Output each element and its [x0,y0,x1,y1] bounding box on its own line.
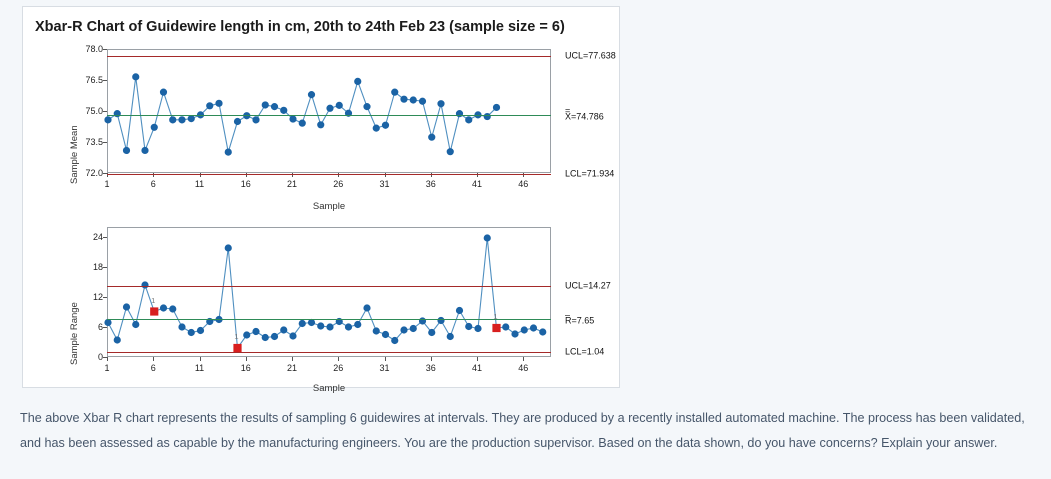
xbar-chart-data-point [327,105,333,111]
chart-card: Xbar-R Chart of Guidewire length in cm, … [22,6,620,388]
r-chart-data-point [392,337,398,343]
xbar-chart-data-point [466,117,472,123]
r-chart-data-point [503,324,509,330]
r-chart-violation-flag: 1 [151,296,155,305]
r-chart-x-tick: 1 [104,363,109,373]
r-chart-series [108,228,552,358]
r-chart-data-point [281,327,287,333]
r-plot-area [107,227,551,357]
r-chart-x-tick-mark [153,357,154,361]
xbar-chart-data-point [253,117,259,123]
r-chart-data-point [373,328,379,334]
r-chart-x-tick-mark [338,357,339,361]
r-chart: Sample Range Sample 06121824161116212631… [23,215,621,395]
xbar-chart-center-label: =X=74.786 [565,109,604,122]
r-chart-violation-point [493,324,500,331]
r-chart-data-point [262,334,268,340]
r-chart-data-point [456,307,462,313]
r-chart-y-tick-mark [103,267,107,268]
xbar-chart-lcl-line [107,174,551,175]
xbar-chart-data-point [160,89,166,95]
xbar-chart-data-point [271,104,277,110]
r-chart-lcl-line [107,352,551,353]
xbar-chart-x-tick: 11 [195,179,204,189]
r-chart-data-point [345,324,351,330]
r-chart-center-label: –R=7.65 [565,312,594,325]
xbar-chart-data-point [281,107,287,113]
xbar-chart-data-point [299,120,305,126]
r-chart-y-tick: 0 [77,352,103,362]
r-chart-violation-flag: 1 [493,312,497,321]
r-chart-data-point [512,331,518,337]
r-chart-violation-point [151,308,158,315]
r-chart-data-point [160,305,166,311]
xbar-chart-y-tick-mark [103,111,107,112]
xbar-chart-y-tick: 78.0 [77,44,103,54]
xbar-chart-ucl-label: UCL=77.638 [565,52,616,61]
xbar-chart-x-tick: 6 [151,179,156,189]
xbar-chart-data-point [401,96,407,102]
xbar-chart-y-tick-mark [103,80,107,81]
r-chart-data-point [484,235,490,241]
r-chart-data-point [114,337,120,343]
xbar-chart-x-tick: 1 [104,179,109,189]
xbar-chart-data-point [105,117,111,123]
r-chart-x-tick-mark [477,357,478,361]
r-chart-x-tick: 31 [379,363,389,373]
r-chart-x-tick-mark [200,357,201,361]
xbar-chart-lcl-label: LCL=71.934 [565,170,614,179]
r-chart-x-tick: 16 [241,363,251,373]
xbar-chart-data-point [447,149,453,155]
r-chart-data-point [197,327,203,333]
r-chart-y-tick-mark [103,237,107,238]
xbar-chart-y-tick: 75.0 [77,106,103,116]
xbar-chart-data-point [151,124,157,130]
r-chart-data-point [382,331,388,337]
r-chart-data-point [133,321,139,327]
r-chart-violation-point [234,344,241,351]
r-chart-ucl-label: UCL=14.27 [565,281,611,290]
xbar-chart-data-point [355,78,361,84]
xbar-chart-x-tick: 21 [287,179,297,189]
xbar-chart-center-label-text: X=74.786 [565,112,604,122]
xbar-chart-y-tick-mark [103,49,107,50]
xbar-chart-data-point [142,147,148,153]
xbar-chart-data-point [429,134,435,140]
r-chart-data-point [244,332,250,338]
xbar-chart-x-tick: 46 [518,179,528,189]
xbar-chart: Sample Mean Sample 72.073.575.076.578.01… [23,39,621,219]
r-chart-x-tick: 21 [287,363,297,373]
xbar-chart-data-point [262,102,268,108]
r-chart-data-point [318,323,324,329]
xbar-chart-data-point [170,117,176,123]
xbar-chart-x-tick: 41 [472,179,482,189]
r-chart-x-tick-mark [292,357,293,361]
r-chart-data-point [179,324,185,330]
xbar-chart-x-tick: 31 [379,179,389,189]
r-chart-data-point [299,320,305,326]
xbar-chart-data-point [373,125,379,131]
xbar-chart-data-point [392,89,398,95]
xbar-chart-data-point [290,116,296,122]
xbar-chart-y-tick: 73.5 [77,137,103,147]
r-chart-data-point [475,325,481,331]
xbar-chart-y-tick-mark [103,142,107,143]
xbar-chart-x-tick: 16 [241,179,251,189]
r-chart-data-point [327,324,333,330]
r-chart-data-point [521,327,527,333]
r-chart-x-tick: 46 [518,363,528,373]
r-chart-data-point [466,323,472,329]
r-chart-data-point [410,325,416,331]
r-chart-data-point [308,319,314,325]
r-chart-y-tick-mark [103,327,107,328]
xbar-chart-data-point [419,98,425,104]
r-chart-x-tick-mark [107,357,108,361]
r-chart-lcl-label: LCL=1.04 [565,347,604,356]
xbar-chart-data-point [216,100,222,106]
xbar-chart-series [108,50,552,174]
xbar-chart-data-point [364,104,370,110]
xbar-chart-data-point [133,74,139,80]
xbar-chart-ucl-line [107,56,551,57]
xbar-chart-y-tick: 76.5 [77,75,103,85]
r-chart-y-tick: 6 [77,322,103,332]
xbar-chart-data-point [207,103,213,109]
xbar-chart-data-point [188,116,194,122]
xbar-chart-data-point [308,92,314,98]
r-chart-ucl-line [107,286,551,287]
xbar-chart-data-point [225,149,231,155]
r-chart-data-point [225,245,231,251]
xbar-chart-x-tick: 36 [426,179,436,189]
xbar-chart-x-tick: 26 [333,179,343,189]
xbar-chart-data-point [484,113,490,119]
r-chart-y-tick: 24 [77,232,103,242]
r-chart-data-point [530,325,536,331]
r-chart-data-point [364,305,370,311]
r-chart-y-tick-mark [103,297,107,298]
chart-title: Xbar-R Chart of Guidewire length in cm, … [35,19,565,35]
xbar-chart-data-point [123,147,129,153]
r-chart-x-tick: 26 [333,363,343,373]
xbar-chart-y-tick: 72.0 [77,168,103,178]
r-x-axis-label: Sample [107,383,551,394]
xbar-chart-data-point [382,122,388,128]
r-chart-data-point [355,321,361,327]
xbar-chart-data-point [493,104,499,110]
r-chart-center-label-text: R=7.65 [565,315,594,325]
r-chart-data-point [540,329,546,335]
xbar-chart-center-line [107,115,551,116]
xbar-chart-data-point [336,102,342,108]
r-chart-x-tick-mark [385,357,386,361]
xbar-chart-data-point [234,118,240,124]
xbar-chart-data-point [179,117,185,123]
r-chart-data-point [290,333,296,339]
r-chart-data-point [253,328,259,334]
r-chart-center-line [107,319,551,320]
r-chart-x-tick: 41 [472,363,482,373]
r-chart-x-tick: 6 [151,363,156,373]
r-chart-data-point [401,327,407,333]
r-chart-data-point [429,329,435,335]
r-chart-x-tick-mark [523,357,524,361]
r-chart-data-point [123,304,129,310]
page-root: Xbar-R Chart of Guidewire length in cm, … [0,0,1051,479]
r-chart-x-tick-mark [246,357,247,361]
r-chart-data-point [188,329,194,335]
r-chart-x-tick-mark [431,357,432,361]
r-chart-y-tick: 18 [77,262,103,272]
r-chart-violation-flag: 1 [234,332,238,341]
xbar-x-axis-label: Sample [107,201,551,212]
r-chart-data-point [271,333,277,339]
r-chart-x-tick: 36 [426,363,436,373]
question-text: The above Xbar R chart represents the re… [20,406,1040,456]
r-chart-x-tick: 11 [195,363,204,373]
xbar-chart-data-point [318,122,324,128]
xbar-chart-data-point [410,97,416,103]
r-chart-data-point [170,306,176,312]
xbar-plot-area [107,49,551,173]
r-chart-y-tick: 12 [77,292,103,302]
xbar-chart-data-point [438,101,444,107]
r-chart-data-point [447,333,453,339]
r-chart-data-point [105,319,111,325]
